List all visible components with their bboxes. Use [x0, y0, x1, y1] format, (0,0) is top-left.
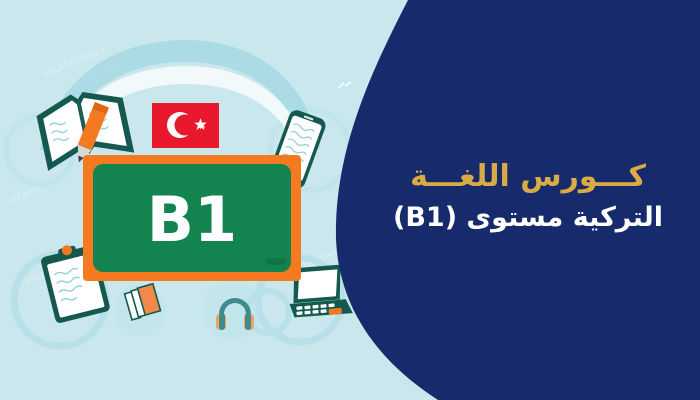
course-title-primary: كـــورس اللغـــة [378, 160, 678, 195]
course-banner: B1 shutterstock shutter... utterst shutt… [0, 0, 700, 400]
course-title-secondary: التركية مستوى (B1) [378, 202, 678, 233]
navy-panel [0, 0, 700, 400]
